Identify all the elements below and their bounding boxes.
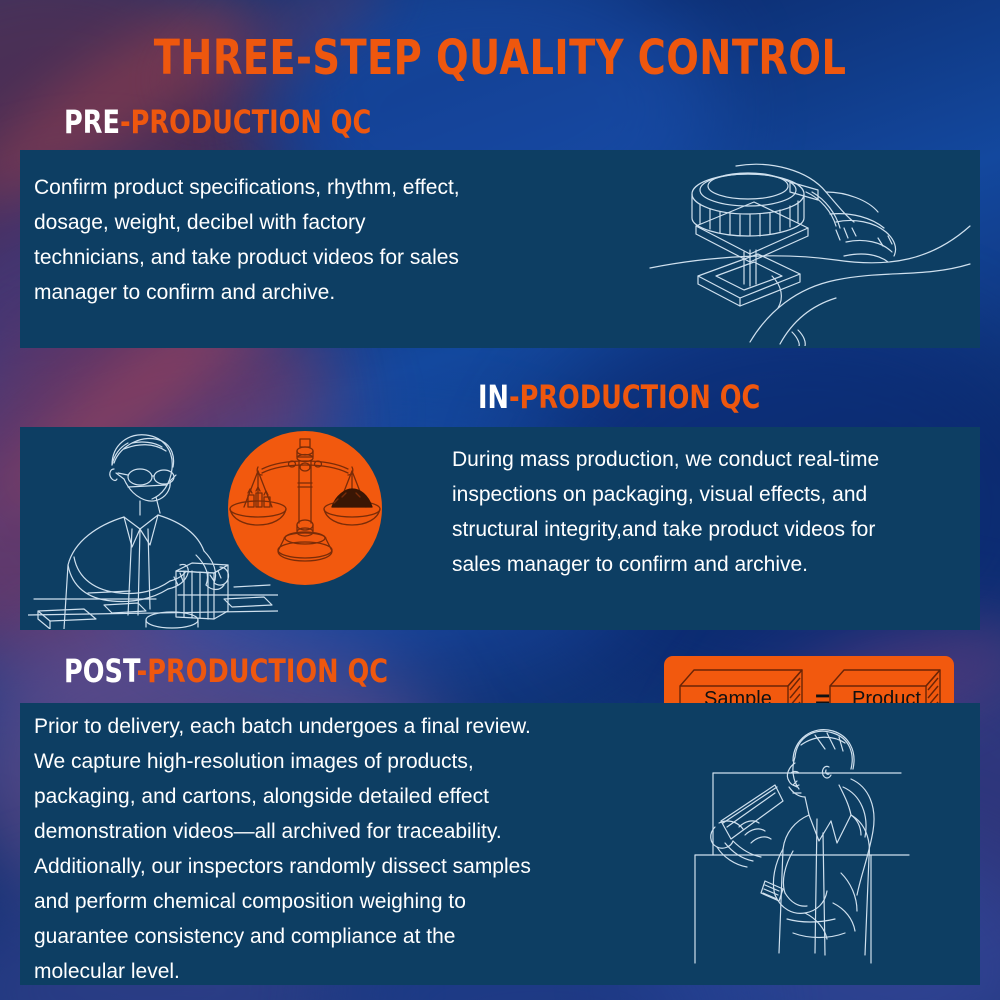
body-text-post-production: Prior to delivery, each batch undergoes …	[34, 709, 674, 989]
section-heading-in-orange: -PRODUCTION QC	[509, 378, 760, 416]
section-heading-pre-white: PRE	[64, 103, 120, 141]
body-text-in-production: During mass production, we conduct real-…	[452, 442, 1000, 582]
inspector-with-tablet-icon	[665, 723, 980, 983]
section-heading-pre-orange: -PRODUCTION QC	[120, 103, 371, 141]
section-heading-in-white: IN	[478, 378, 509, 416]
body-text-pre-production: Confirm product specifications, rhythm, …	[34, 170, 654, 310]
panel-pre-production: Confirm product specifications, rhythm, …	[20, 150, 980, 348]
panel-post-production: Prior to delivery, each batch undergoes …	[20, 703, 980, 985]
section-heading-in-production: IN-PRODUCTION QC	[478, 378, 760, 416]
section-heading-post-orange: -PRODUCTION QC	[137, 652, 388, 690]
panel-in-production: During mass production, we conduct real-…	[20, 427, 980, 630]
section-heading-pre-production: PRE-PRODUCTION QC	[64, 103, 371, 141]
page-title: THREE-STEP QUALITY CONTROL	[100, 30, 900, 86]
infographic-canvas: THREE-STEP QUALITY CONTROL PRE-PRODUCTIO…	[0, 0, 1000, 1000]
balance-scale-icon	[228, 431, 382, 585]
hand-holding-product-icon	[640, 156, 980, 346]
section-heading-post-white: POST	[64, 652, 137, 690]
section-heading-post-production: POST-PRODUCTION QC	[64, 652, 388, 690]
